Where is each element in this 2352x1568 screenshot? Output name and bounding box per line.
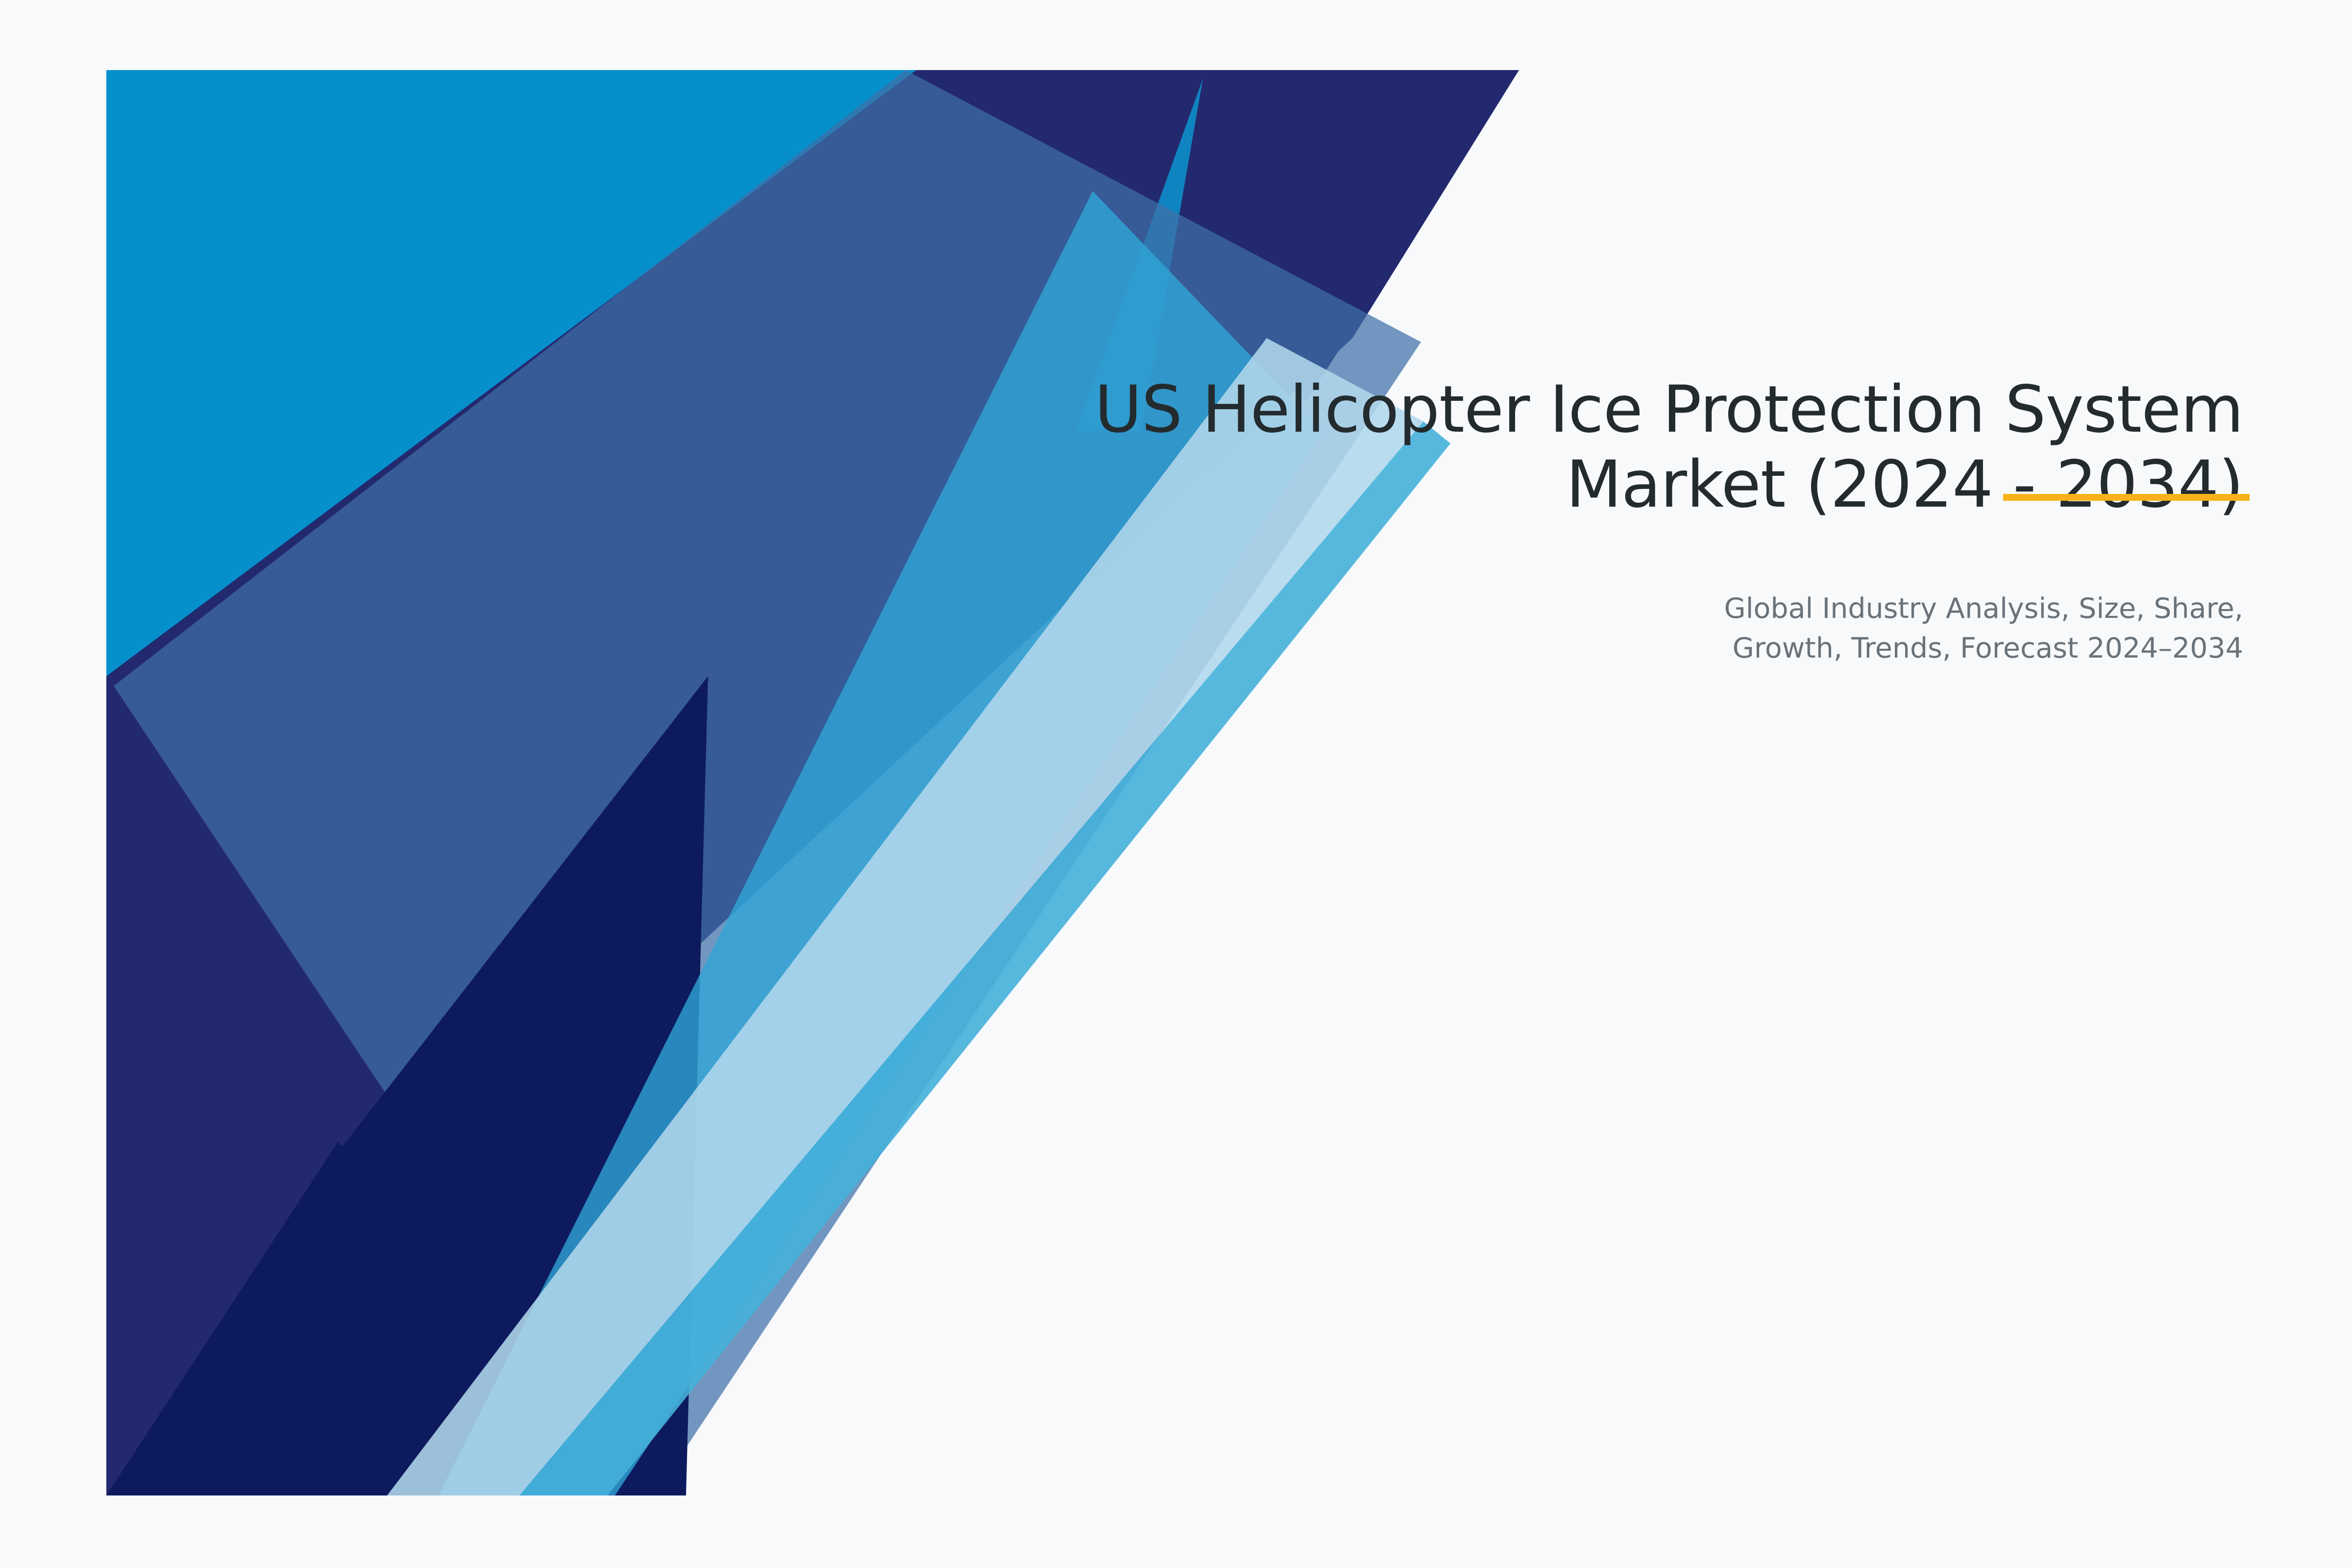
title-block: US Helicopter Ice Protection System Mark…	[798, 372, 2243, 668]
abstract-geometric-cover-graphic	[0, 0, 2352, 1568]
shape-navy-top-right	[916, 70, 1519, 402]
shape-deep-navy-spike	[108, 676, 708, 1495]
shape-slate-overlay	[114, 70, 1421, 1495]
shape-cyan-base	[106, 70, 916, 1083]
title-underline-icon	[2003, 494, 2250, 501]
cover-page: US Helicopter Ice Protection System Mark…	[0, 0, 2352, 1568]
shape-deep-navy-block	[106, 1142, 686, 1495]
shape-navy-sweep	[106, 70, 1519, 1495]
page-subtitle: Global Industry Analysis, Size, Share, G…	[798, 522, 2243, 668]
